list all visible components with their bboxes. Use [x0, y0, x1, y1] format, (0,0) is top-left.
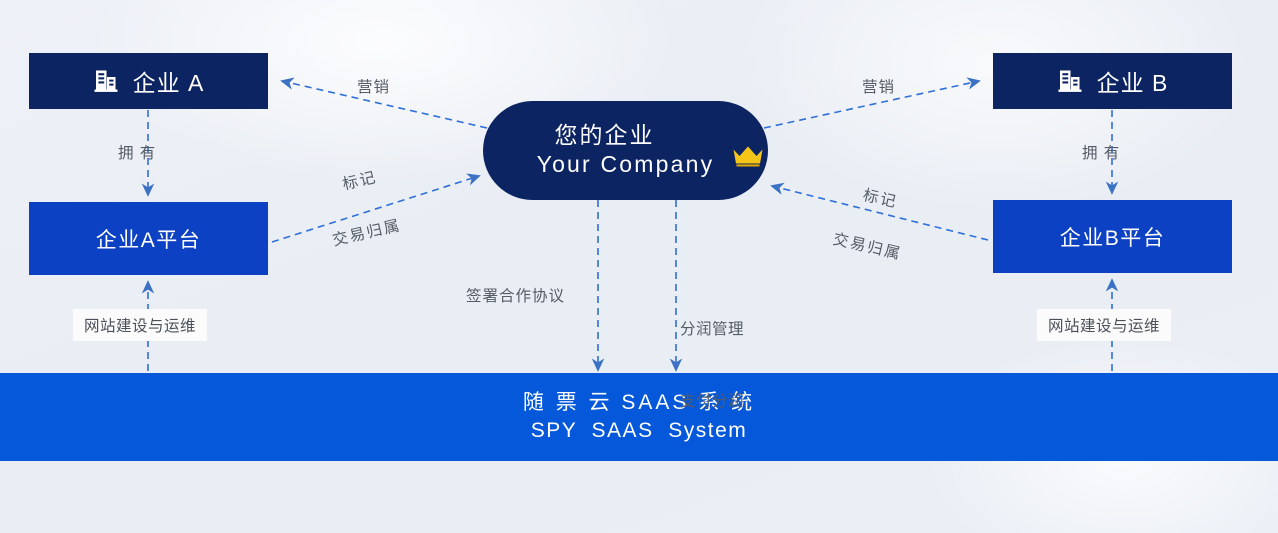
- diagram-canvas: 企业 A 企业 B 企业A平台 企业B平台 您的企业: [0, 0, 1278, 533]
- edge-label-profit-management: 分润管理: [680, 318, 744, 342]
- edge-label-own-a: 拥 有: [118, 141, 156, 163]
- edge-label-marketing-a: 营销: [357, 75, 390, 97]
- edge-label-profit-sharing: 分润管理 支付分润: [680, 270, 744, 462]
- platform-b-node[interactable]: 企业B平台: [993, 200, 1232, 273]
- edge-label-web-build-a: 网站建设与运维: [73, 309, 207, 341]
- enterprise-a-label: 企业 A: [133, 64, 205, 98]
- crown-icon: [665, 119, 697, 143]
- your-company-line1-row: 您的企业: [555, 123, 697, 148]
- platform-a-node[interactable]: 企业A平台: [29, 202, 268, 275]
- enterprise-a-node[interactable]: 企业 A: [29, 53, 268, 109]
- edge-label-profit-payment: 支付分润: [680, 390, 744, 414]
- saas-system-bar[interactable]: 随 票 云 SAAS 系 统 SPY SAAS System: [0, 373, 1278, 461]
- edge-label-web-build-b: 网站建设与运维: [1037, 309, 1171, 341]
- building-icon: [1057, 68, 1083, 94]
- edge-label-marketing-b: 营销: [862, 75, 895, 97]
- edge-label-own-b: 拥 有: [1082, 141, 1120, 163]
- your-company-cn-label: 您的企业: [555, 123, 655, 148]
- your-company-node[interactable]: 您的企业 Your Company: [483, 101, 768, 200]
- edge-label-sign-agreement: 签署合作协议: [466, 284, 565, 306]
- enterprise-b-node[interactable]: 企业 B: [993, 53, 1232, 109]
- building-icon: [93, 68, 119, 94]
- enterprise-b-label: 企业 B: [1097, 64, 1169, 98]
- platform-a-label: 企业A平台: [96, 224, 202, 254]
- platform-b-label: 企业B平台: [1060, 222, 1166, 252]
